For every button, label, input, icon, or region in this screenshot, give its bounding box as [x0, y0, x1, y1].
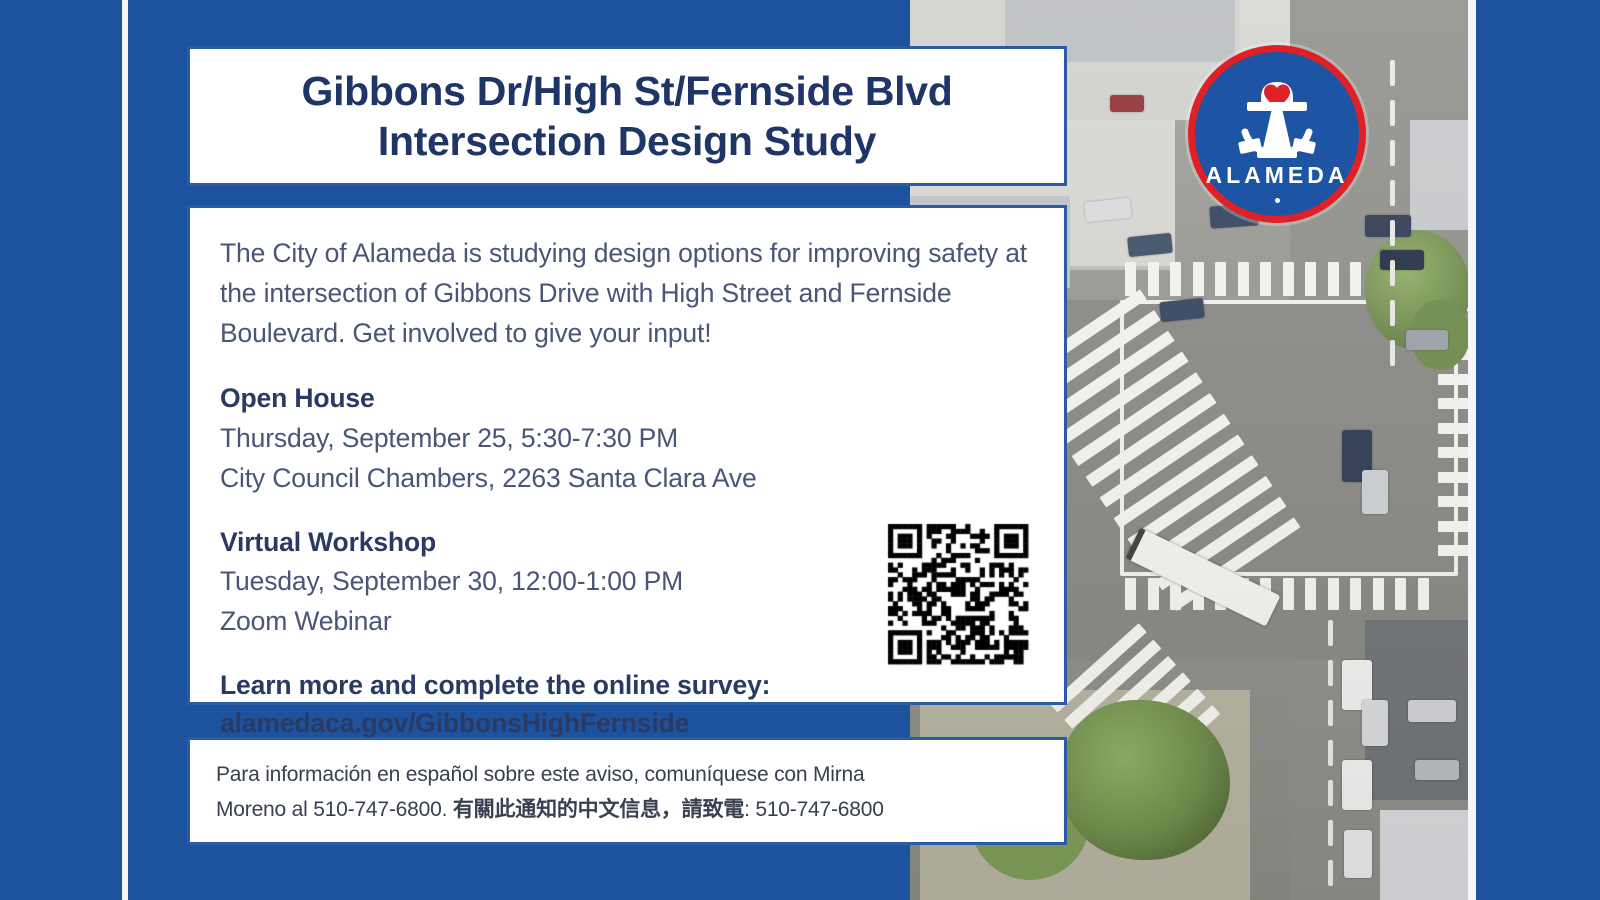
notice-spanish-line-1: Para información en español sobre este a…	[216, 758, 1038, 792]
notice-chinese-phone: : 510-747-6800	[744, 798, 884, 821]
survey-callout-label: Learn more and complete the online surve…	[220, 666, 1034, 704]
title-box: Gibbons Dr/High St/Fernside Blvd Interse…	[187, 46, 1067, 186]
alameda-city-seal: ALAMEDA	[1188, 45, 1366, 223]
event-open-house: Open House Thursday, September 25, 5:30-…	[220, 379, 1034, 498]
title-line-1: Gibbons Dr/High St/Fernside Blvd	[301, 66, 952, 116]
notice-chinese-text: 有關此通知的中文信息，請致電	[453, 797, 744, 821]
open-house-heading: Open House	[220, 379, 1034, 419]
notice-spanish-phone: Moreno al 510-747-6800.	[216, 798, 453, 821]
page-title: Gibbons Dr/High St/Fernside Blvd Interse…	[301, 66, 952, 166]
left-accent-strip	[0, 0, 122, 900]
title-line-2: Intersection Design Study	[301, 116, 952, 166]
seal-wordmark: ALAMEDA	[1195, 162, 1359, 189]
open-house-location: City Council Chambers, 2263 Santa Clara …	[220, 459, 1034, 499]
intro-paragraph: The City of Alameda is studying design o…	[220, 234, 1034, 353]
anchor-heart-emblem	[1231, 74, 1323, 160]
notice-line-2: Moreno al 510-747-6800. 有關此通知的中文信息，請致電: …	[216, 792, 1038, 827]
right-accent-strip	[1476, 0, 1600, 900]
flyer-canvas: Gibbons Dr/High St/Fernside Blvd Interse…	[0, 0, 1600, 900]
right-white-rule	[1468, 0, 1476, 900]
open-house-datetime: Thursday, September 25, 5:30-7:30 PM	[220, 419, 1034, 459]
qr-code-survey-link[interactable]	[884, 520, 1032, 668]
seal-dot	[1275, 198, 1280, 203]
survey-callout: Learn more and complete the online surve…	[220, 666, 1034, 743]
translation-notice-box: Para información en español sobre este a…	[187, 737, 1067, 845]
